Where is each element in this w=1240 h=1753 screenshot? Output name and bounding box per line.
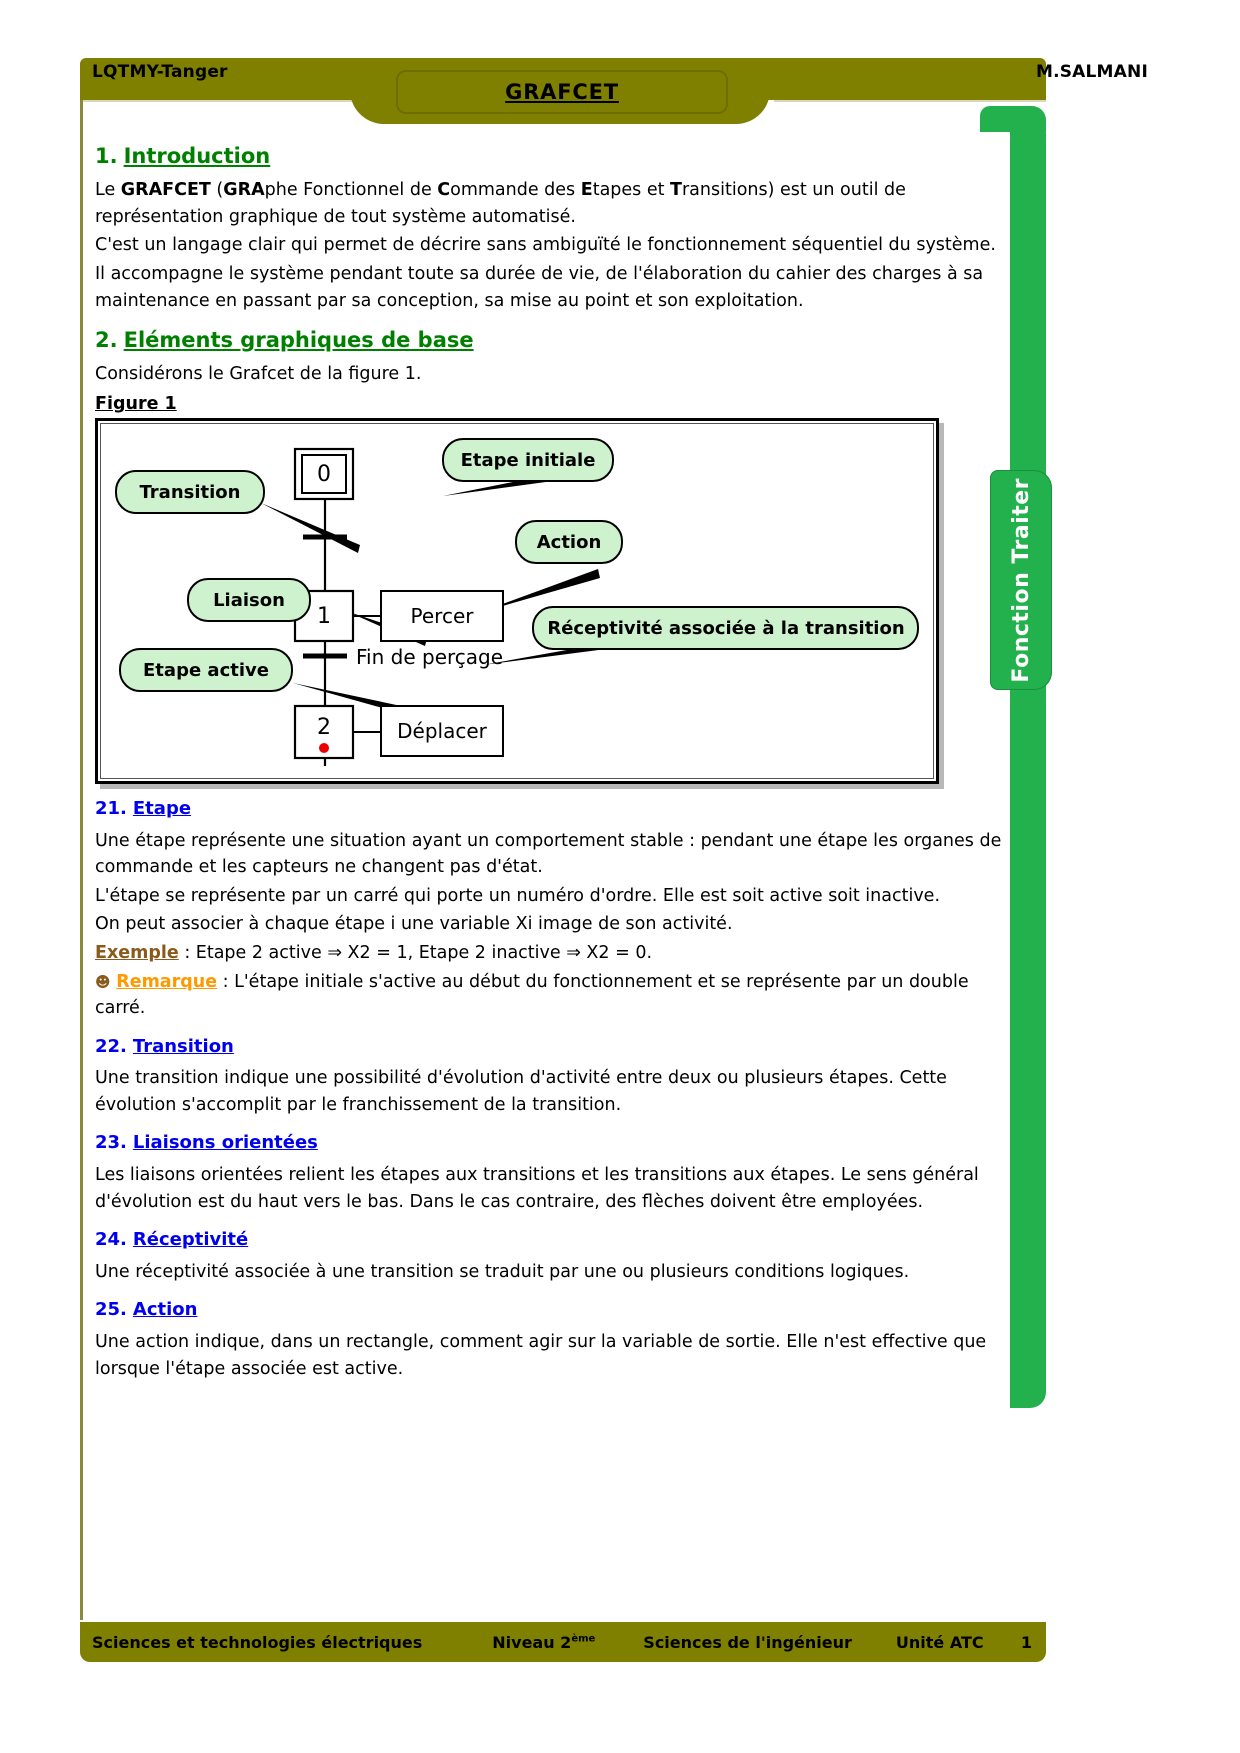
section-title-22: Transition: [133, 1036, 234, 1057]
leader-transition: [261, 503, 360, 553]
section-title-23: Liaisons orientées: [133, 1132, 318, 1153]
receptivite-paragraph-1: Une réceptivité associée à une transitio…: [95, 1259, 1020, 1286]
section-heading-elements: 2.Eléments graphiques de base: [95, 328, 1020, 353]
receptivity-label: Fin de perçage: [356, 645, 503, 669]
liaisons-paragraph-1: Les liaisons orientées relient les étape…: [95, 1162, 1020, 1215]
step-1-number: 1: [317, 604, 331, 629]
header-rule-right: [774, 100, 1046, 102]
etape-paragraph-2: L'étape se représente par un carré qui p…: [95, 883, 1020, 910]
footer-level-sup: ème: [571, 1633, 595, 1644]
etape-paragraph-3: On peut associer à chaque étape i une va…: [95, 911, 1020, 938]
etape-remarque-line: ☻ Remarque : L'étape initiale s'active a…: [95, 969, 1020, 1022]
callout-etape-active-label: Etape active: [143, 660, 269, 681]
document-content: 1.Introduction Le GRAFCET (GRAphe Foncti…: [95, 130, 1020, 1388]
section-number-22: 22.: [95, 1036, 127, 1057]
section-title-2: Eléments graphiques de base: [124, 328, 474, 352]
section-title-21: Etape: [133, 798, 191, 819]
callout-action-label: Action: [537, 532, 602, 553]
section-heading-transition: 22.Transition: [95, 1036, 1020, 1058]
step-1-action-label: Percer: [411, 604, 475, 628]
step-0-number: 0: [317, 462, 331, 487]
bell-icon: ☻: [95, 973, 111, 991]
intro-paragraph-2: C'est un langage clair qui permet de déc…: [95, 232, 1020, 259]
figure-1-box: 0 1 Percer Fin de perçage 2 Déplacer: [95, 418, 939, 784]
remarque-keyword: Remarque: [116, 972, 217, 992]
page-title: GRAFCET: [505, 80, 619, 104]
section-number-2: 2.: [95, 328, 118, 352]
etape-paragraph-1: Une étape représente une situation ayant…: [95, 828, 1020, 881]
section-number-24: 24.: [95, 1229, 127, 1250]
header-author-label: M.SALMANI: [1036, 62, 1148, 82]
grafcet-diagram: 0 1 Percer Fin de perçage 2 Déplacer: [98, 421, 936, 781]
section-heading-introduction: 1.Introduction: [95, 144, 1020, 169]
transition-paragraph-1: Une transition indique une possibilité d…: [95, 1065, 1020, 1118]
step-2-action-label: Déplacer: [397, 719, 488, 743]
header-title-tab: GRAFCET: [350, 58, 770, 124]
section-title-25: Action: [133, 1299, 198, 1320]
green-spine-top: [980, 106, 1046, 132]
section-number-23: 23.: [95, 1132, 127, 1153]
header-rule-left: [80, 100, 352, 102]
footer-item-unit: Unité ATC: [896, 1633, 984, 1652]
step-2-active-dot: [319, 743, 329, 753]
exemple-keyword: Exemple: [95, 943, 179, 963]
remarque-separator: :: [217, 972, 234, 992]
footer-level-main: Niveau 2: [492, 1633, 571, 1652]
etape-exemple-line: Exemple : Etape 2 active ⇒ X2 = 1, Etape…: [95, 940, 1020, 967]
header-tab-inner-frame: GRAFCET: [396, 70, 728, 114]
callout-liaison-label: Liaison: [213, 590, 285, 611]
figure-caption: Figure 1: [95, 394, 1020, 414]
section-heading-etape: 21.Etape: [95, 798, 1020, 820]
step-2-number: 2: [317, 715, 331, 740]
section-title-24: Réceptivité: [133, 1229, 248, 1250]
intro-paragraph-3: Il accompagne le système pendant toute s…: [95, 261, 1020, 314]
section-number-1: 1.: [95, 144, 118, 168]
section-number-25: 25.: [95, 1299, 127, 1320]
section-heading-liaisons: 23.Liaisons orientées: [95, 1132, 1020, 1154]
footer-item-subject: Sciences et technologies électriques: [92, 1633, 422, 1652]
callout-receptivite-label: Réceptivité associée à la transition: [547, 618, 904, 639]
callout-transition-label: Transition: [140, 482, 241, 503]
footer-item-level: Niveau 2ème: [492, 1633, 595, 1652]
intro-paragraph-1: Le GRAFCET (GRAphe Fonctionnel de Comman…: [95, 177, 1020, 230]
action-paragraph-1: Une action indique, dans un rectangle, c…: [95, 1329, 1020, 1382]
section-title-1: Introduction: [124, 144, 271, 168]
section-heading-receptivite: 24.Réceptivité: [95, 1229, 1020, 1251]
callout-etape-initiale-label: Etape initiale: [461, 450, 596, 471]
exemple-separator: :: [179, 943, 196, 963]
footer-item-field: Sciences de l'ingénieur: [643, 1633, 852, 1652]
header-school-label: LQTMY-Tanger: [92, 62, 228, 82]
body-left-rule: [80, 100, 83, 1620]
footer-page-number: 1: [1021, 1633, 1032, 1652]
footer-content: Sciences et technologies électriques Niv…: [80, 1622, 1046, 1662]
section-heading-action: 25.Action: [95, 1299, 1020, 1321]
elements-paragraph-1: Considérons le Grafcet de la figure 1.: [95, 361, 1020, 388]
exemple-text: Etape 2 active ⇒ X2 = 1, Etape 2 inactiv…: [196, 943, 652, 963]
page-root: Fonction Traiter LQTMY-Tanger M.SALMANI …: [0, 0, 1240, 1753]
section-number-21: 21.: [95, 798, 127, 819]
